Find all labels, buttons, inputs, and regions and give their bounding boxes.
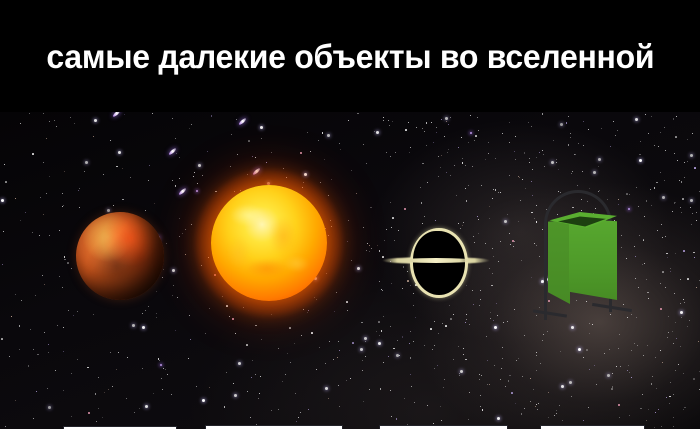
label-card-sun: Солнце 149 млн км. <box>205 425 343 429</box>
page-title: самые далекие объекты во вселенной <box>46 40 654 73</box>
mars-shadow <box>76 212 164 300</box>
label-card-gaia: Gaia BH1 1600 св. лет <box>379 425 508 429</box>
title-bar: самые далекие объекты во вселенной <box>0 0 700 112</box>
accretion-disk-front <box>396 258 476 263</box>
bin-frame-leg-left <box>544 242 547 320</box>
bin-side-face <box>548 220 570 304</box>
bin-frame-foot-right <box>592 303 632 312</box>
meme-image: самые далекие объекты во вселенной <box>0 0 700 429</box>
sun-icon <box>196 170 342 316</box>
trash-bin-icon <box>528 190 640 330</box>
black-hole-icon <box>382 225 490 297</box>
sun-surface-texture <box>211 185 327 301</box>
sun-body <box>211 185 327 301</box>
planet-mars-icon <box>76 212 164 300</box>
bin-frame-foot-left <box>533 309 567 317</box>
label-card-note: Урна, когда курильщику нужно избавиться … <box>540 425 645 429</box>
space-background: Марс 54 млн км. Солнце 149 млн км. Gaia … <box>0 112 700 429</box>
bin-front-face <box>569 218 617 300</box>
